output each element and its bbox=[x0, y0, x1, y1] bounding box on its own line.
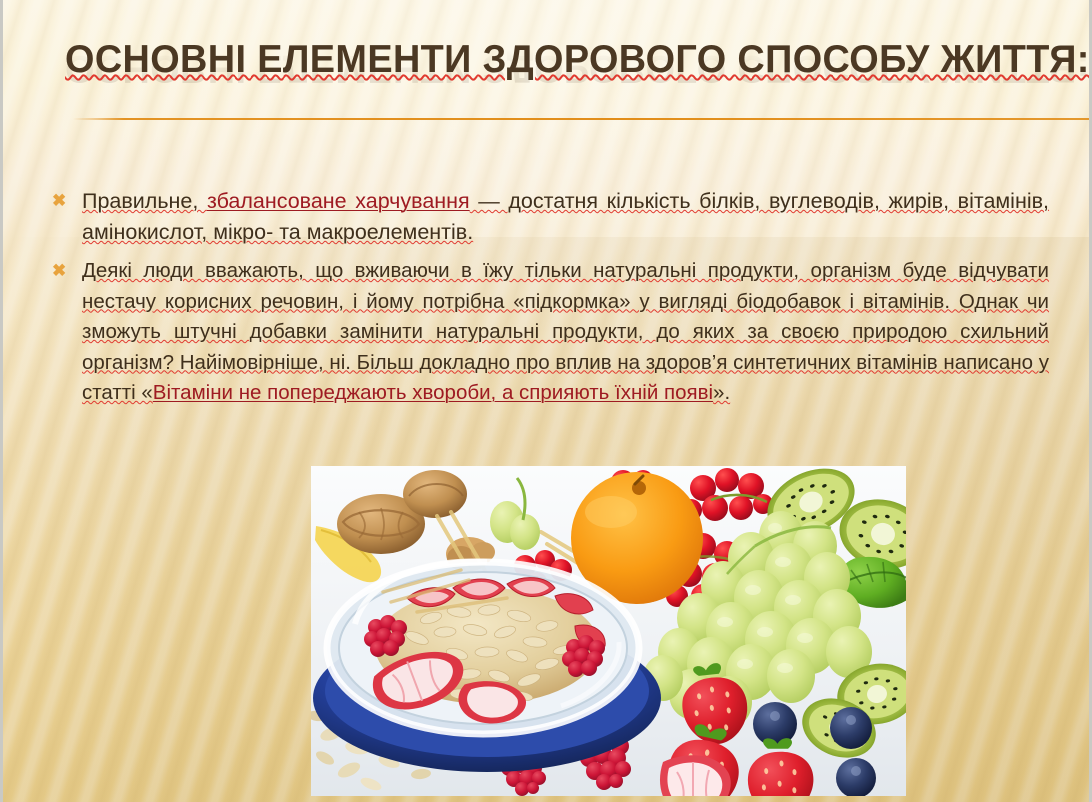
bullet-text-2: Деякі люди вважають, що вживаючи в їжу т… bbox=[82, 256, 1049, 409]
bullet-1-segment-0: Правильне, bbox=[82, 189, 207, 213]
bullet-text-1: Правильне, збалансоване харчування — дос… bbox=[82, 186, 1049, 248]
bullet-marker-icon: ✖ bbox=[49, 186, 82, 216]
slide-title-block: ОСНОВНІ ЕЛЕМЕНТИ ЗДОРОВОГО СПОСОБУ ЖИТТЯ… bbox=[3, 38, 1089, 118]
healthy-food-illustration bbox=[311, 466, 906, 796]
page-title: ОСНОВНІ ЕЛЕМЕНТИ ЗДОРОВОГО СПОСОБУ ЖИТТЯ… bbox=[65, 38, 1090, 82]
content-body: ✖ Правильне, збалансоване харчування — д… bbox=[49, 186, 1049, 417]
list-item: ✖ Деякі люди вважають, що вживаючи в їжу… bbox=[49, 256, 1049, 409]
title-divider bbox=[73, 118, 1089, 120]
list-item: ✖ Правильне, збалансоване харчування — д… bbox=[49, 186, 1049, 248]
healthy-food-photo bbox=[311, 466, 906, 796]
link-vitamins-article[interactable]: Вітаміни не попереджають хвороби, а спри… bbox=[153, 381, 713, 404]
bullet-2-segment-2: ». bbox=[713, 381, 730, 404]
bullet-marker-icon: ✖ bbox=[49, 256, 82, 286]
link-balanced-nutrition[interactable]: збалансоване харчування bbox=[207, 189, 470, 213]
slide: ОСНОВНІ ЕЛЕМЕНТИ ЗДОРОВОГО СПОСОБУ ЖИТТЯ… bbox=[0, 0, 1092, 802]
